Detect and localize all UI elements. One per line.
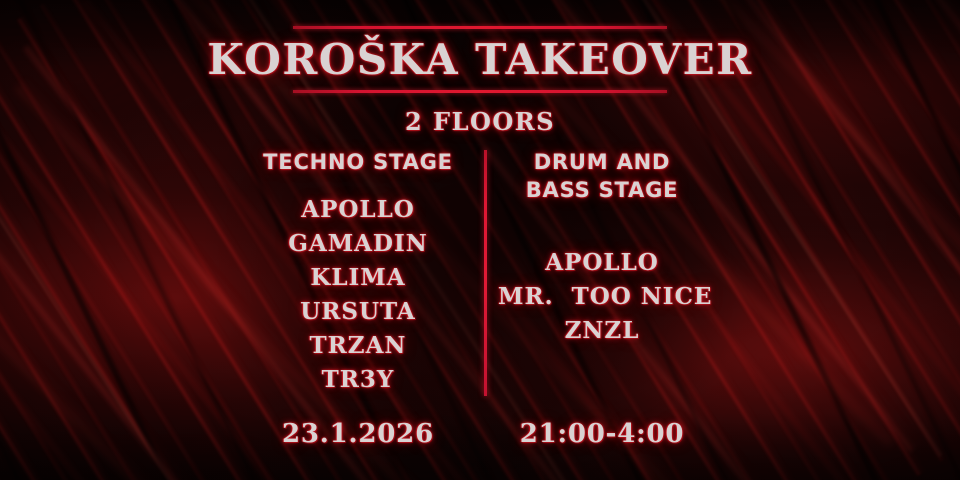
artist-list-techno: APOLLO GAMADIN KLIMA URSUTA TRZAN TR3Y — [254, 193, 462, 397]
stage-columns: TECHNO STAGE APOLLO GAMADIN KLIMA URSUTA… — [0, 148, 960, 397]
event-time: 21:00-4:00 — [480, 417, 706, 451]
stage-heading-techno: TECHNO STAGE — [254, 148, 462, 176]
stage-column-techno: TECHNO STAGE APOLLO GAMADIN KLIMA URSUTA… — [254, 148, 480, 397]
list-item: MR. TOO NICE — [498, 280, 706, 314]
list-item: URSUTA — [254, 295, 462, 329]
title-rule-bottom — [293, 90, 667, 93]
poster-content: KOROŠKA TAKEOVER 2 FLOORS TECHNO STAGE A… — [0, 0, 960, 480]
title-rule-top — [293, 26, 667, 29]
stage-heading-drum-and-bass: DRUM AND BASS STAGE — [498, 148, 706, 204]
artist-list-drum-and-bass: APOLLO MR. TOO NICE ZNZL — [498, 246, 706, 348]
event-date: 23.1.2026 — [254, 417, 480, 451]
stage-column-drum-and-bass: DRUM AND BASS STAGE APOLLO MR. TOO NICE … — [480, 148, 706, 348]
footer-line: 23.1.2026 21:00-4:00 — [0, 417, 960, 451]
title-block: KOROŠKA TAKEOVER — [0, 26, 960, 93]
page-title: KOROŠKA TAKEOVER — [0, 35, 960, 85]
list-item: TRZAN — [254, 329, 462, 363]
list-item: APOLLO — [498, 246, 706, 280]
event-poster: KOROŠKA TAKEOVER 2 FLOORS TECHNO STAGE A… — [0, 0, 960, 480]
stage-divider — [484, 150, 487, 396]
list-item: KLIMA — [254, 261, 462, 295]
list-item: APOLLO — [254, 193, 462, 227]
list-item: GAMADIN — [254, 227, 462, 261]
list-item: TR3Y — [254, 363, 462, 397]
floors-subtitle: 2 FLOORS — [0, 107, 960, 137]
list-item: ZNZL — [498, 314, 706, 348]
